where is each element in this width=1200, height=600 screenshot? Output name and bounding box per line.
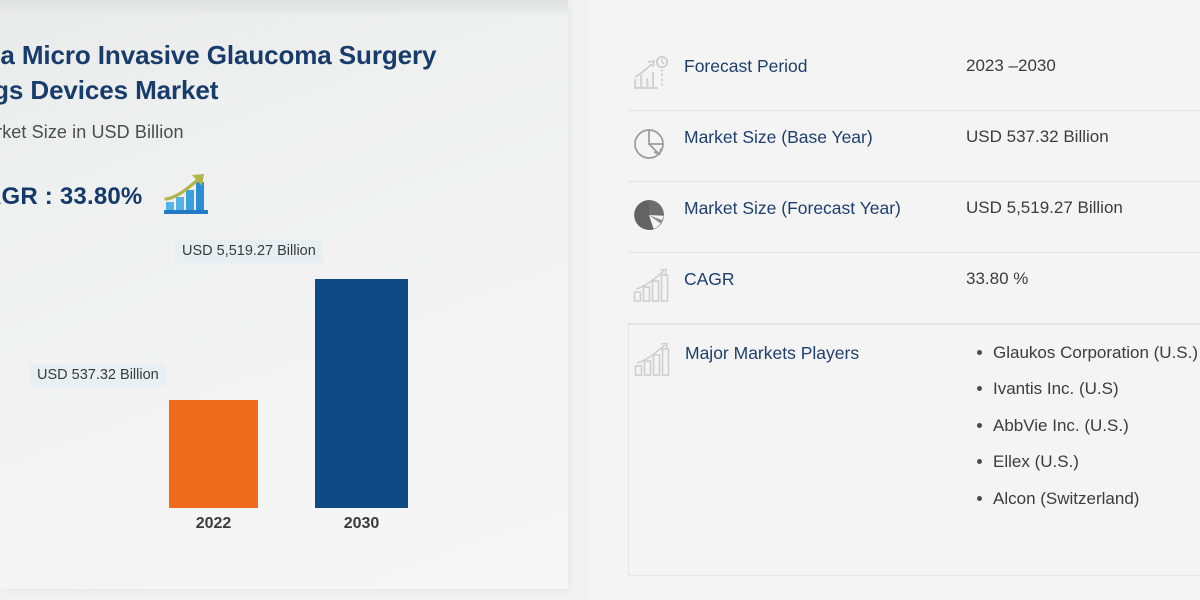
market-info-table: Forecast Period 2023 –2030 Market Si [628,40,1200,576]
left-chart-panel: sa Micro Invasive Glaucoma Surgery igs D… [0,0,568,589]
chart-subtitle: arket Size in USD Billion [0,122,184,143]
page-title: sa Micro Invasive Glaucoma Surgery igs D… [0,38,546,107]
title-line-2: igs Devices Market [0,73,546,108]
table-row-key: CAGR [684,267,966,293]
bar-2030 [315,279,408,508]
list-item: Ivantis Inc. (U.S) [993,377,1200,400]
bar-chart: USD 5,519.27 Billion USD 537.32 Billion … [0,230,568,550]
table-row: Market Size (Forecast Year) USD 5,519.27… [628,182,1200,253]
panel-top-band [0,0,568,14]
table-row-value: USD 537.32 Billion [966,125,1200,150]
bar-plot-region [0,230,568,508]
table-row-key: Major Markets Players [685,341,967,367]
major-players-list: Glaukos Corporation (U.S.) Ivantis Inc. … [967,341,1200,510]
cagr-value-label: AGR : 33.80% [0,183,142,211]
table-row: Market Size (Base Year) USD 537.32 Billi… [628,111,1200,182]
table-row: Major Markets Players Glaukos Corporatio… [628,324,1200,576]
table-row: CAGR 33.80 % [628,253,1200,324]
bar-chart-trend-icon [628,267,684,309]
table-row-value: 2023 –2030 [966,54,1200,79]
table-row-value-list: Glaukos Corporation (U.S.) Ivantis Inc. … [967,341,1200,510]
list-item: Ellex (U.S.) [993,450,1200,473]
table-row-key: Market Size (Base Year) [684,125,966,151]
axis-label-2022: 2022 [169,515,258,533]
table-row: Forecast Period 2023 –2030 [628,40,1200,111]
bar-chart-trend-icon [629,341,685,383]
table-row-key: Forecast Period [684,54,966,80]
chart-increasing-icon [162,172,210,221]
list-item: Glaukos Corporation (U.S.) [993,341,1200,364]
pie-chart-outline-icon [628,125,684,167]
table-row-value: 33.80 % [966,267,1200,292]
cagr-callout: AGR : 33.80% [0,172,210,221]
infographic-screen: sa Micro Invasive Glaucoma Surgery igs D… [0,0,1200,600]
forecast-timeline-icon [628,54,684,96]
table-row-key: Market Size (Forecast Year) [684,196,966,222]
title-line-1: sa Micro Invasive Glaucoma Surgery [0,38,546,73]
pie-chart-filled-icon [628,196,684,238]
list-item: AbbVie Inc. (U.S.) [993,414,1200,437]
right-info-panel: Forecast Period 2023 –2030 Market Si [588,0,1200,600]
list-item: Alcon (Switzerland) [993,487,1200,510]
axis-label-2030: 2030 [315,515,408,533]
bar-2022 [169,400,258,508]
table-row-value: USD 5,519.27 Billion [966,196,1200,221]
